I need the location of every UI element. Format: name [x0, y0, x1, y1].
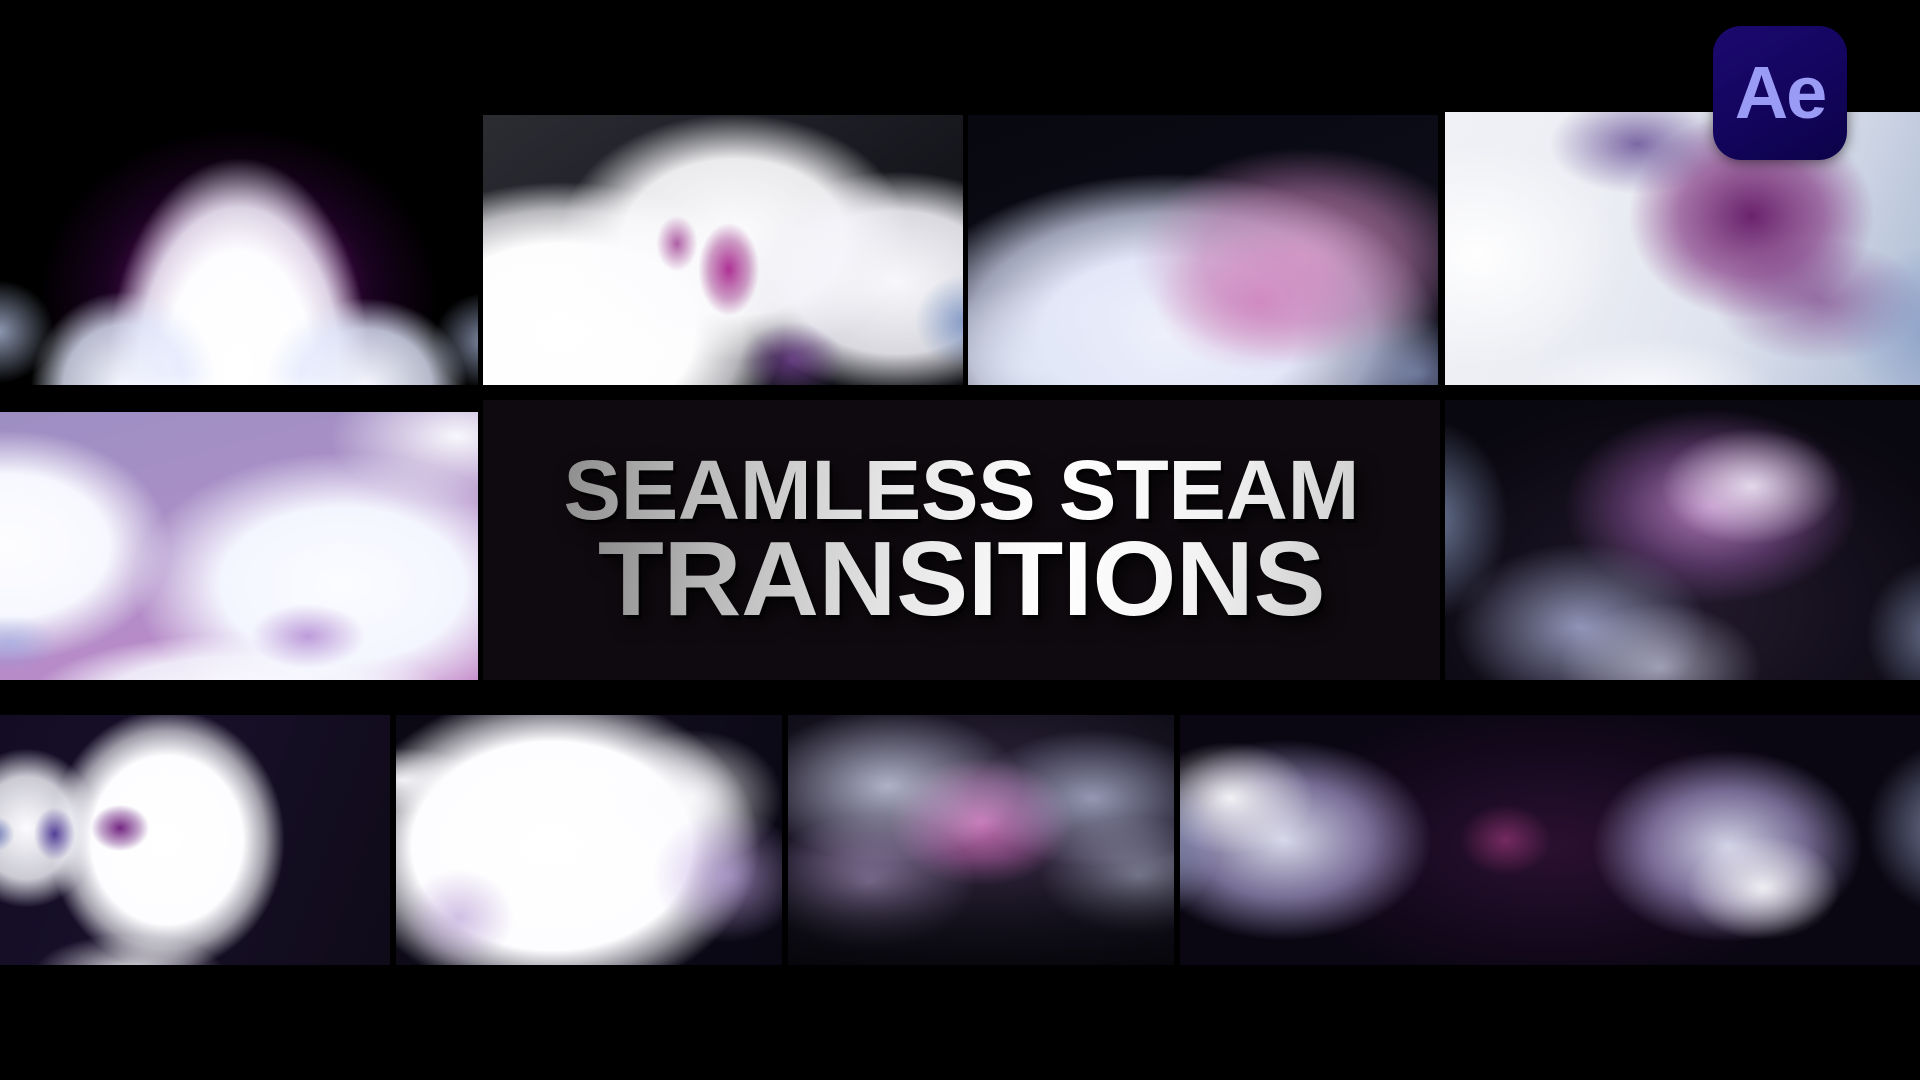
tile-3-cloud-body: [968, 115, 1438, 385]
tile-9-magenta-core: [788, 715, 1174, 965]
preview-canvas: SEAMLESS STEAM TRANSITIONS: [0, 0, 1920, 1080]
tile-7-blue-core: [0, 715, 390, 965]
gallery-tile-10[interactable]: [1180, 715, 1920, 965]
tile-8-upper-puff: [396, 715, 782, 965]
tile-3-pink-core: [968, 115, 1438, 385]
tile-4-white-field: [1445, 112, 1920, 385]
tile-4-violet-arm: [1445, 112, 1920, 385]
after-effects-badge-label: Ae: [1735, 56, 1826, 130]
tile-5-cloud-base: [0, 412, 478, 680]
tile-10-backdrop: [1180, 715, 1920, 965]
tile-10-center-glow: [1180, 715, 1920, 965]
tile-2-cloud-b: [483, 115, 963, 385]
tile-10-highlight-right: [1180, 715, 1920, 965]
title-card-panel: SEAMLESS STEAM TRANSITIONS: [483, 400, 1440, 680]
tile-6-purple-core: [1445, 400, 1920, 680]
gallery-tile-6[interactable]: [1445, 400, 1920, 680]
gallery-tile-8[interactable]: [396, 715, 782, 965]
tile-1-backdrop: [0, 0, 478, 385]
tile-2-backdrop: [483, 115, 963, 385]
tile-5-cloud-center: [0, 412, 478, 680]
tile-5-cloud-left: [0, 412, 478, 680]
tile-8-lower-violet: [396, 715, 782, 965]
tile-3-pink-mass: [968, 115, 1438, 385]
tile-3-blue-wisp: [968, 115, 1438, 385]
title-card-text: SEAMLESS STEAM TRANSITIONS: [483, 400, 1440, 680]
title-line-primary: SEAMLESS STEAM: [564, 452, 1360, 529]
tile-5-violet-shadow: [0, 412, 478, 680]
tile-6-base-glow: [1445, 400, 1920, 680]
tile-1-puff-right: [0, 0, 478, 385]
gallery-tile-1[interactable]: [0, 0, 478, 385]
tile-9-lower-left-plume: [788, 715, 1174, 965]
gallery-tile-4[interactable]: [1445, 112, 1920, 385]
tile-10-mass-left: [1180, 715, 1920, 965]
tile-9-dark-floor: [788, 715, 1174, 965]
tile-1-puff-left: [0, 0, 478, 385]
after-effects-icon[interactable]: Ae: [1713, 26, 1847, 160]
tile-4-magenta-void: [1445, 112, 1920, 385]
tile-5-cloud-top: [0, 412, 478, 680]
tile-10-edge-left: [1180, 715, 1920, 965]
tile-10-highlight-left: [1180, 715, 1920, 965]
tile-2-magenta-vein: [483, 115, 963, 385]
tile-5-blue-shadow: [0, 412, 478, 680]
gallery-tile-3[interactable]: [968, 115, 1438, 385]
tile-6-bright-burst: [1445, 400, 1920, 680]
tile-9-upper-right-plume: [788, 715, 1174, 965]
tile-5-backdrop: [0, 412, 478, 680]
tile-3-white-lobe: [968, 115, 1438, 385]
tile-6-lower-plume: [1445, 400, 1920, 680]
gallery-tile-9[interactable]: [788, 715, 1174, 965]
tile-7-backdrop: [0, 715, 390, 965]
tile-4-purple-spread: [1445, 112, 1920, 385]
tile-4-backdrop: [1445, 112, 1920, 385]
tile-2-magenta-vein-2: [483, 115, 963, 385]
tile-2-cloud-c: [483, 115, 963, 385]
tile-10-edge-right: [1180, 715, 1920, 965]
tile-7-purple-core: [0, 715, 390, 965]
tile-1-wisp-left: [0, 0, 478, 385]
tile-7-bottom-puff: [0, 715, 390, 965]
tile-6-right-wisp: [1445, 400, 1920, 680]
tile-7-white-blob: [0, 715, 390, 965]
tile-3-backdrop: [968, 115, 1438, 385]
gallery-tile-2[interactable]: [483, 115, 963, 385]
tile-6-backdrop: [1445, 400, 1920, 680]
tile-1-base: [0, 0, 478, 385]
gallery-tile-5[interactable]: [0, 412, 478, 680]
gallery-tile-7[interactable]: [0, 715, 390, 965]
title-line-secondary: TRANSITIONS: [598, 531, 1325, 629]
tile-2-purple-pool: [483, 115, 963, 385]
tile-8-purple-rim: [396, 715, 782, 965]
tile-1-plume: [0, 0, 478, 385]
tile-2-cloud-a: [483, 115, 963, 385]
tile-8-backdrop: [396, 715, 782, 965]
tile-4-blue-corner: [1445, 112, 1920, 385]
tile-6-left-wisp: [1445, 400, 1920, 680]
tile-9-lower-right-plume: [788, 715, 1174, 965]
tile-4-bottom-haze: [1445, 112, 1920, 385]
tile-1-wisp-right: [0, 0, 478, 385]
tile-7-white-tail: [0, 715, 390, 965]
tile-2-blue-edge: [483, 115, 963, 385]
tile-8-left-puff: [396, 715, 782, 965]
tile-9-upper-left-plume: [788, 715, 1174, 965]
tile-9-backdrop: [788, 715, 1174, 965]
tile-7-indigo-core: [0, 715, 390, 965]
tile-10-mass-right: [1180, 715, 1920, 965]
tile-8-white-mass: [396, 715, 782, 965]
